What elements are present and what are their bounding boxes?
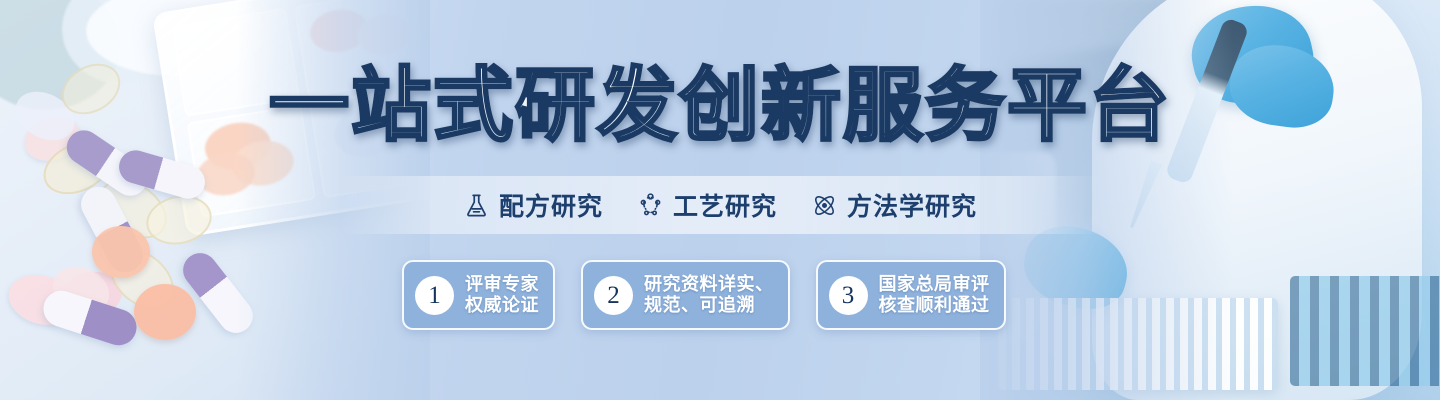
feature-number-badge: 3 (829, 276, 868, 315)
banner-title-wrap: 一站式研发创新服务平台 (0, 64, 1440, 149)
feature-line-1: 国家总局审评 (879, 274, 990, 295)
service-item-methodology[interactable]: 方法学研究 (811, 187, 977, 223)
page-title: 一站式研发创新服务平台 (269, 64, 1171, 149)
atom-icon (811, 192, 838, 219)
service-item-process[interactable]: 工艺研究 (637, 187, 777, 223)
service-label: 配方研究 (499, 187, 603, 223)
feature-card-1[interactable]: 1 评审专家 权威论证 (402, 260, 555, 330)
feature-text: 研究资料详实、 规范、可追溯 (644, 274, 774, 316)
feature-number-badge: 1 (415, 276, 454, 315)
service-item-formulation[interactable]: 配方研究 (463, 187, 603, 223)
feature-text: 评审专家 权威论证 (465, 274, 539, 316)
service-band: 配方研究 工艺研究 (340, 176, 1100, 234)
feature-card-list: 1 评审专家 权威论证 2 研究资料详实、 规范、可追溯 3 国家总局审评 核查… (402, 260, 1058, 330)
service-label: 工艺研究 (673, 187, 777, 223)
service-label: 方法学研究 (847, 187, 977, 223)
feature-card-3[interactable]: 3 国家总局审评 核查顺利通过 (816, 260, 1006, 330)
molecule-icon (637, 192, 664, 219)
feature-line-2: 规范、可追溯 (644, 295, 774, 316)
feature-text: 国家总局审评 核查顺利通过 (879, 274, 990, 316)
feature-line-2: 核查顺利通过 (879, 295, 990, 316)
feature-line-1: 研究资料详实、 (644, 274, 774, 295)
feature-line-1: 评审专家 (465, 274, 539, 295)
test-tube-rack (1290, 276, 1440, 386)
feature-number-badge: 2 (594, 276, 633, 315)
flask-icon (463, 192, 490, 219)
feature-line-2: 权威论证 (465, 295, 539, 316)
hero-banner: 一站式研发创新服务平台 配方研究 (0, 0, 1440, 400)
feature-card-2[interactable]: 2 研究资料详实、 规范、可追溯 (581, 260, 790, 330)
